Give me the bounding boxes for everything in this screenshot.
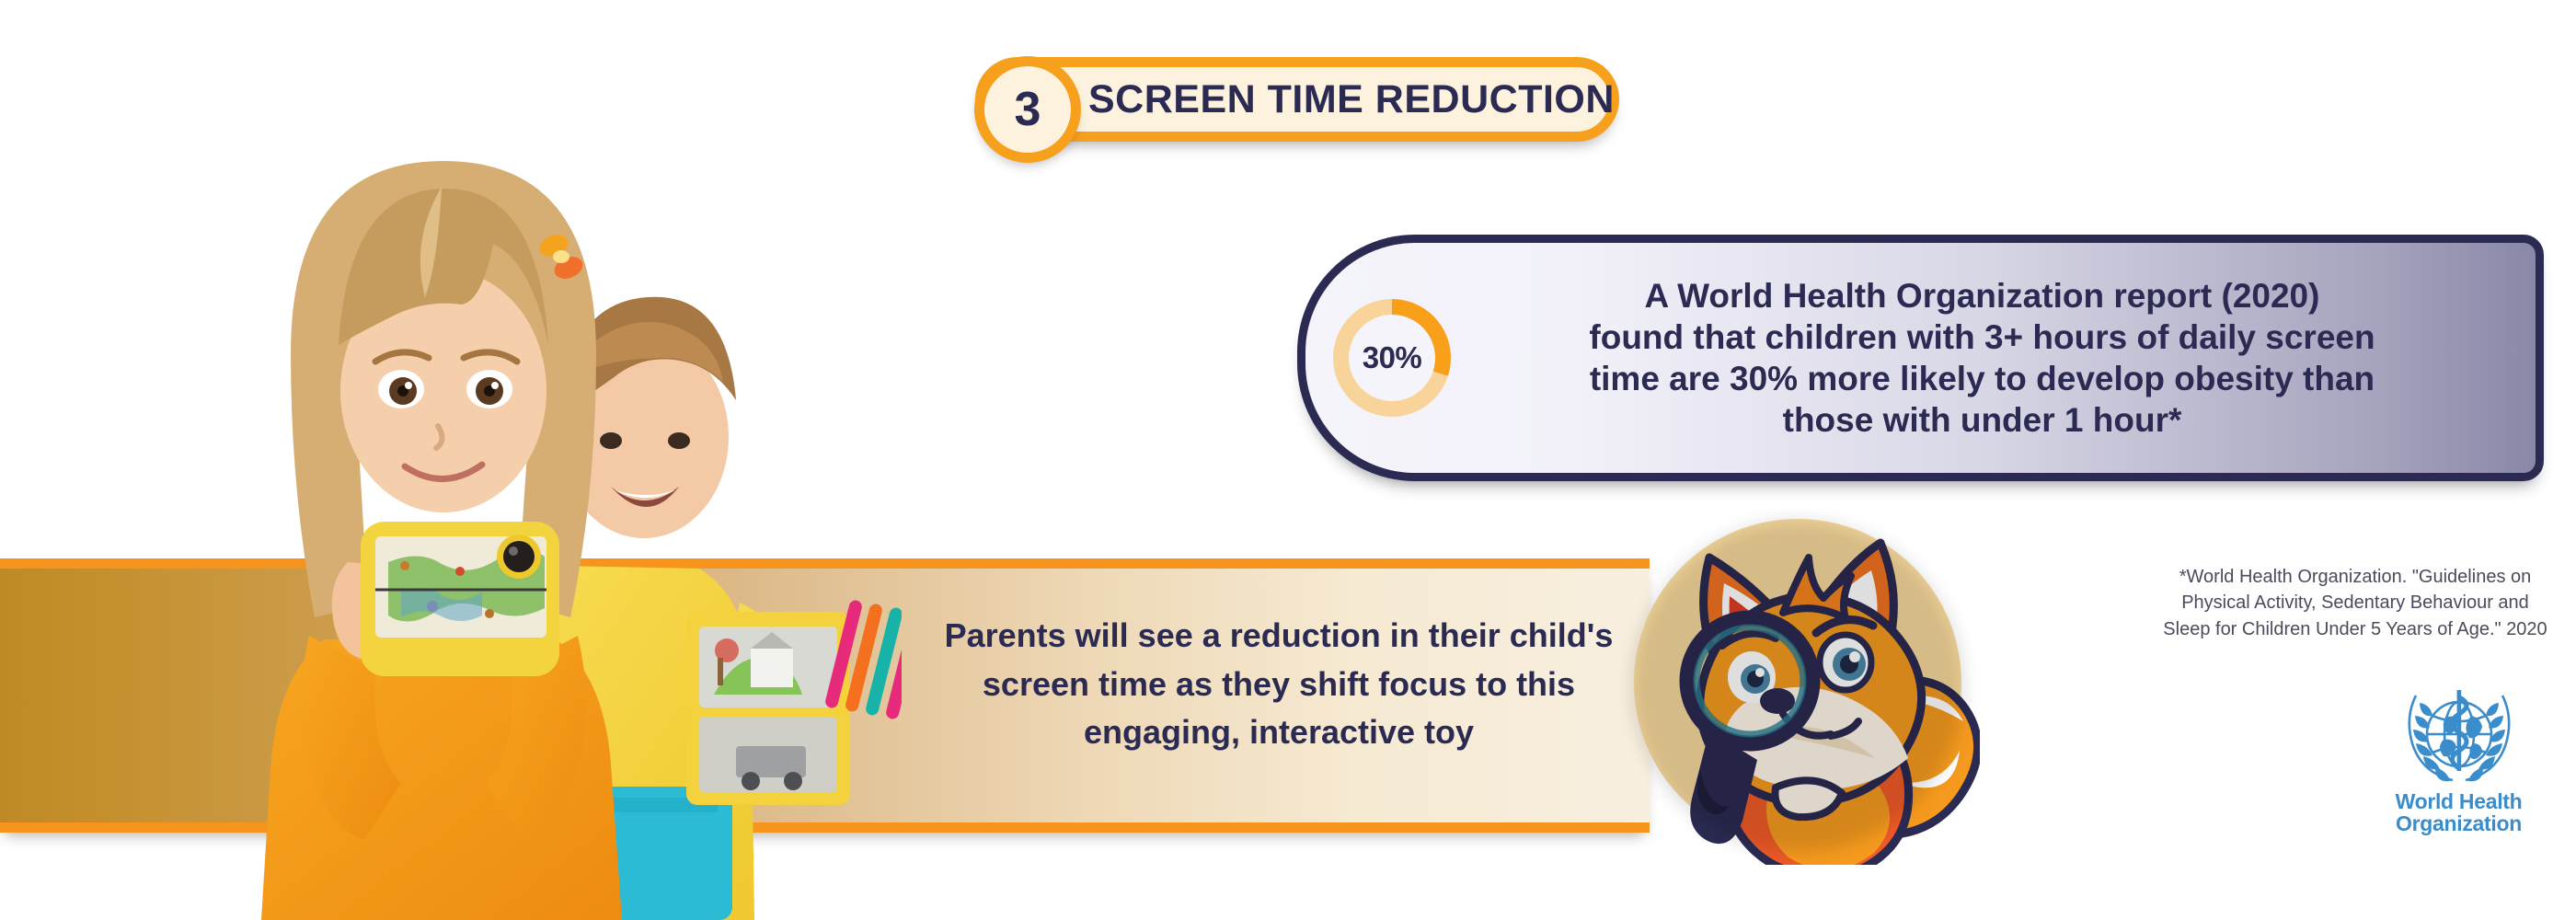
who-statistic-card: 30% A World Health Organization report (… (1297, 235, 2544, 481)
toy-camera (361, 522, 559, 676)
benefit-statement: Parents will see a reduction in their ch… (938, 612, 1619, 757)
who-statistic-text: A World Health Organization report (2020… (1451, 275, 2536, 442)
who-logo-line1: World Health (2387, 791, 2530, 813)
section-header-pill[interactable]: SCREEN TIME REDUCTION 3 (975, 57, 1619, 142)
who-emblem-icon (2405, 688, 2513, 788)
kids-photo-illustration (129, 51, 902, 920)
citation-line: Sleep for Children Under 5 Years of Age.… (2157, 616, 2553, 642)
who-logo: World Health Organization (2387, 688, 2530, 835)
citation-line: *World Health Organization. "Guidelines … (2157, 564, 2553, 590)
kids-photo (129, 51, 902, 920)
fox-mascot-badge (1621, 506, 1980, 865)
fox-badge-shadow (1632, 521, 1963, 852)
infographic-slide: SCREEN TIME REDUCTION 3 30% A World Heal… (0, 0, 2576, 920)
section-number-badge: 3 (974, 56, 1081, 163)
source-citation: *World Health Organization. "Guidelines … (2157, 564, 2553, 642)
benefit-line: engaging, interactive toy (938, 708, 1619, 757)
who-logo-line2: Organization (2387, 813, 2530, 835)
stat-line: found that children with 3+ hours of dai… (1469, 316, 2495, 358)
who-logo-text: World Health Organization (2387, 791, 2530, 835)
drawing-board (686, 612, 850, 805)
benefit-line: Parents will see a reduction in their ch… (938, 612, 1619, 661)
donut-value-label: 30% (1363, 340, 1422, 375)
section-header: SCREEN TIME REDUCTION 3 (975, 57, 1619, 142)
stat-line: time are 30% more likely to develop obes… (1469, 358, 2495, 399)
stat-line: those with under 1 hour* (1469, 399, 2495, 441)
citation-line: Physical Activity, Sedentary Behaviour a… (2157, 590, 2553, 615)
benefit-line: screen time as they shift focus to this (938, 661, 1619, 709)
page-title: SCREEN TIME REDUCTION (1088, 77, 1615, 122)
stat-line: A World Health Organization report (2020… (1469, 275, 2495, 316)
percentage-donut-chart: 30% (1333, 299, 1451, 417)
